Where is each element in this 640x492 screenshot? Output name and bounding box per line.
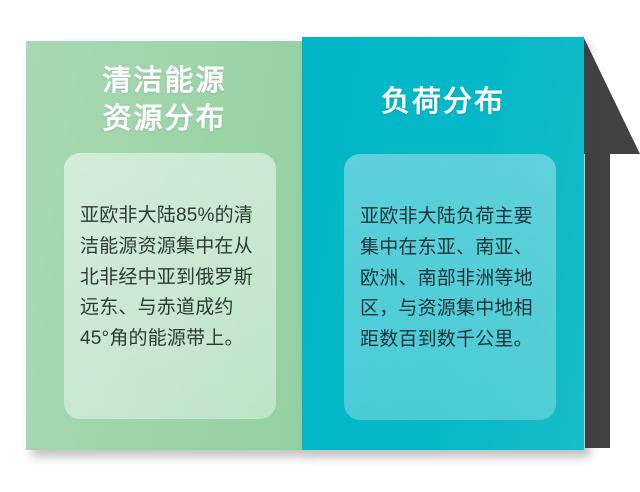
panel-load-distribution-title: 负荷分布 [302, 84, 584, 122]
panel-load-distribution-card: 亚欧非大陆负荷主要集中在东亚、南亚、欧洲、南部非洲等地区，与资源集中地相距数百到… [344, 154, 556, 420]
panel-clean-energy-title-line2: 资源分布 [60, 101, 269, 139]
panel-clean-energy-card: 亚欧非大陆85%的清洁能源资源集中在从北非经中亚到俄罗斯远东、与赤道成约45°角… [64, 153, 276, 419]
panel-clean-energy-title: 清洁能源 资源分布 [26, 63, 303, 138]
panel-load-distribution-title-line1: 负荷分布 [332, 84, 554, 122]
panel-load-distribution: 负荷分布 亚欧非大陆负荷主要集中在东亚、南亚、欧洲、南部非洲等地区，与资源集中地… [302, 37, 584, 450]
panel-clean-energy-title-line1: 清洁能源 [60, 63, 269, 101]
panel-load-distribution-body: 亚欧非大陆负荷主要集中在东亚、南亚、欧洲、南部非洲等地区，与资源集中地相距数百到… [344, 202, 556, 356]
panel-clean-energy-body: 亚欧非大陆85%的清洁能源资源集中在从北非经中亚到俄罗斯远东、与赤道成约45°角… [64, 201, 276, 355]
infographic-canvas: 清洁能源 资源分布 亚欧非大陆85%的清洁能源资源集中在从北非经中亚到俄罗斯远东… [0, 0, 640, 492]
panel-clean-energy: 清洁能源 资源分布 亚欧非大陆85%的清洁能源资源集中在从北非经中亚到俄罗斯远东… [26, 41, 303, 450]
